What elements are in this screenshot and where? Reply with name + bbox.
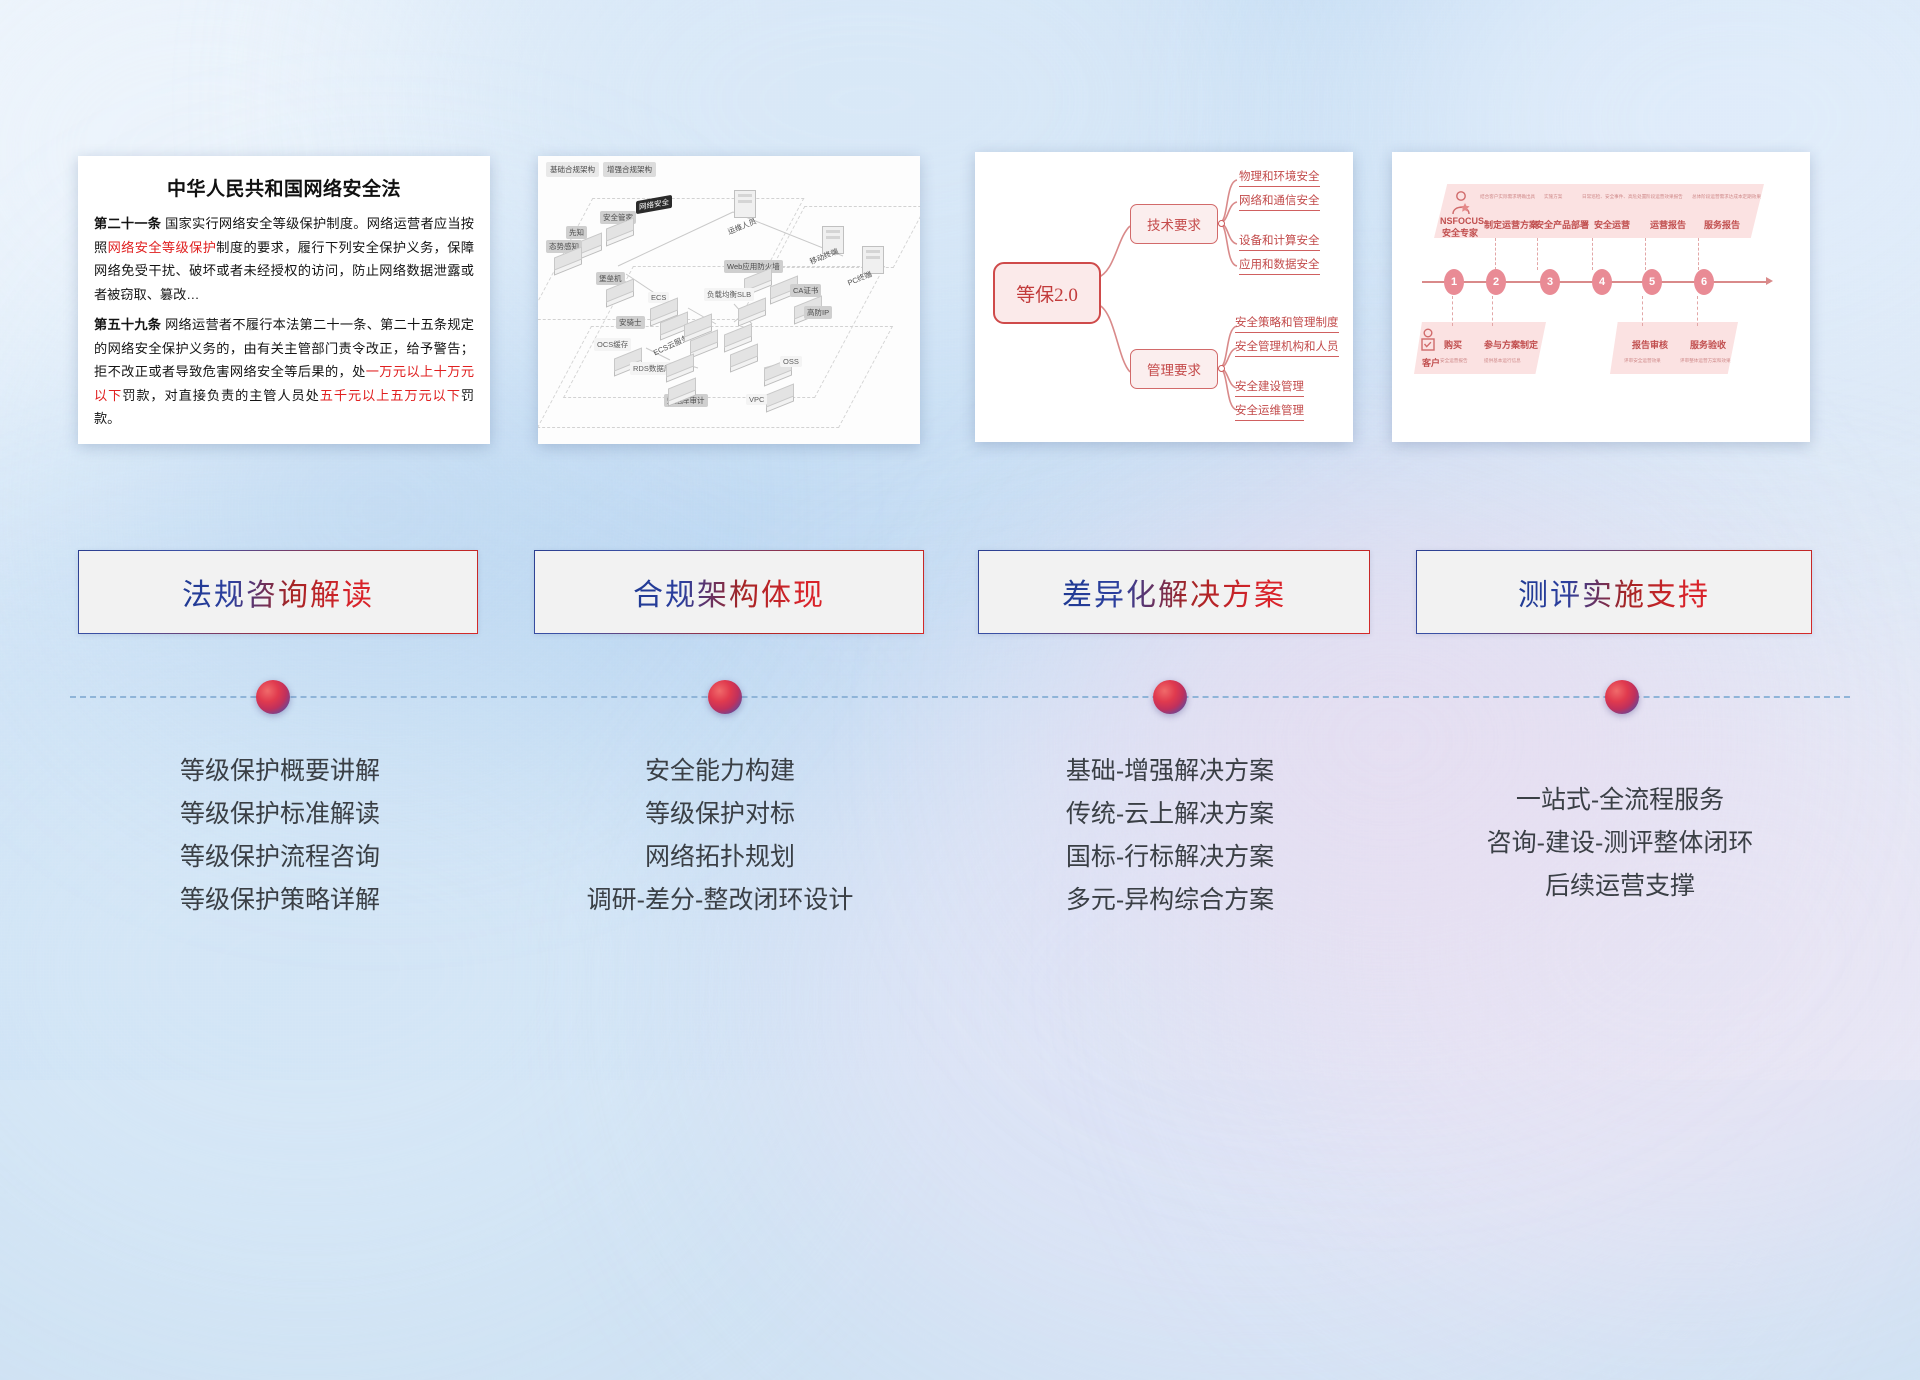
detail-list-1: 等级保护概要讲解 等级保护标准解读 等级保护流程咨询 等级保护策略详解: [60, 750, 500, 922]
mindmap-branch-management: 管理要求: [1130, 349, 1218, 389]
law-title: 中华人民共和国网络安全法: [94, 174, 474, 201]
timeline-tick: [1537, 238, 1538, 270]
timeline-node[interactable]: 3: [1540, 269, 1560, 295]
timeline-tick: [1452, 296, 1453, 326]
service-top-title: 制定运营方案: [1484, 218, 1538, 231]
arch-label-anti-ddos: 高防IP: [804, 306, 832, 319]
arch-node-icon: [738, 302, 764, 322]
arch-node-icon: [668, 382, 694, 402]
arch-label-ca: CA证书: [790, 284, 821, 297]
timeline-node[interactable]: 6: [1694, 269, 1714, 295]
arch-node-icon: [666, 358, 692, 378]
section-title-text: 测评实施支持: [1518, 570, 1710, 614]
service-bottom-title: 购买: [1444, 338, 1462, 351]
service-top-sub: 实施方案: [1544, 194, 1562, 200]
service-bottom-sub: 提供基本运行信息: [1484, 358, 1521, 364]
service-top-title: 安全运营: [1594, 218, 1630, 231]
architecture-diagram: 基础合规架构 增强合规架构 网络安全: [538, 156, 920, 444]
arch-node-icon: [766, 388, 792, 408]
arch-node-icon: [554, 251, 580, 271]
list-item: 等级保护概要讲解: [60, 750, 500, 793]
arch-node-icon: [724, 328, 750, 348]
list-item: 等级保护策略详解: [60, 879, 500, 922]
timeline-tick: [1698, 238, 1699, 270]
timeline-dashed-line: [70, 696, 1850, 698]
section-title-box-2[interactable]: 合规架构体现: [534, 550, 924, 634]
mindmap-leaf: 安全管理机构和人员: [1235, 338, 1339, 357]
service-timeline: NSFOCUS 安全专家 结合客户实际需求明确出具 制定运营方案 实施方案 安全…: [1392, 152, 1810, 442]
arch-label-anqishi: 安骑士: [616, 316, 645, 329]
list-item: 国标-行标解决方案: [950, 836, 1390, 879]
mindmap-leaf: 设备和计算安全: [1239, 232, 1320, 251]
article-59-highlight-b: 五千元以上五万元以下: [320, 388, 461, 403]
service-top-title: 运营报告: [1650, 218, 1686, 231]
expert-label-line2: 安全专家: [1442, 226, 1478, 239]
detail-list-4: 一站式-全流程服务 咨询-建设-测评整体闭环 后续运营支撑: [1400, 779, 1840, 908]
law-article-59: 第五十九条 网络运营者不履行本法第二十一条、第二十五条规定的网络安全保护义务的，…: [94, 313, 474, 431]
list-item: 安全能力构建: [500, 750, 940, 793]
section-title-box-4[interactable]: 测评实施支持: [1416, 550, 1812, 634]
customer-person-icon: [1418, 328, 1438, 354]
card-service-timeline: NSFOCUS 安全专家 结合客户实际需求明确出具 制定运营方案 实施方案 安全…: [1392, 152, 1810, 442]
section-title-text: 差异化解决方案: [1062, 570, 1286, 614]
service-top-sub: 阶段运营效果报告: [1646, 194, 1683, 200]
card-compliance-architecture: 基础合规架构 增强合规架构 网络安全: [538, 156, 920, 444]
list-item: 网络拓扑规划: [500, 836, 940, 879]
timeline-tick: [1495, 238, 1496, 270]
section-detail-row: 等级保护概要讲解 等级保护标准解读 等级保护流程咨询 等级保护策略详解 安全能力…: [0, 740, 1920, 1000]
section-title-row: 法规咨询解读 合规架构体现 差异化解决方案 测评实施支持: [0, 540, 1920, 650]
list-item: 多元-异构综合方案: [950, 879, 1390, 922]
expert-label-line1: NSFOCUS: [1440, 216, 1484, 226]
arch-node-icon: [730, 348, 756, 368]
service-top-title: 安全产品部署: [1535, 218, 1589, 231]
illustration-card-row: 中华人民共和国网络安全法 第二十一条 国家实行网络安全等级保护制度。网络运营者应…: [0, 0, 1920, 460]
article-21-label: 第二十一条: [94, 216, 161, 231]
mindmap-collapse-icon[interactable]: [1218, 365, 1225, 372]
arch-label-vpc: VPC: [746, 394, 767, 405]
list-item: 基础-增强解决方案: [950, 750, 1390, 793]
card-mscs-mindmap: 等保2.0 技术要求 物理和环境安全 网络和通信安全 设备和计算安全 应用和数据…: [975, 152, 1353, 442]
mindmap-branch-technical: 技术要求: [1130, 204, 1218, 244]
mindmap-leaf: 安全建设管理: [1235, 378, 1304, 397]
section-title-box-1[interactable]: 法规咨询解读: [78, 550, 478, 634]
timeline-marker-4[interactable]: [1605, 680, 1639, 714]
arch-label-slb: 负载均衡SLB: [704, 288, 754, 301]
mindmap: 等保2.0 技术要求 物理和环境安全 网络和通信安全 设备和计算安全 应用和数据…: [975, 152, 1353, 442]
detail-list-3: 基础-增强解决方案 传统-云上解决方案 国标-行标解决方案 多元-异构综合方案: [950, 750, 1390, 922]
section-title-text: 法规咨询解读: [182, 570, 374, 614]
article-21-highlight: 网络安全等级保护: [108, 240, 217, 255]
service-top-sub: 总体阶段运营需求达成本定期效果: [1692, 194, 1761, 200]
timeline-tick: [1697, 296, 1698, 326]
article-59-label: 第五十九条: [94, 317, 161, 332]
timeline-node[interactable]: 2: [1486, 269, 1506, 295]
law-article-21: 第二十一条 国家实行网络安全等级保护制度。网络运营者应当按照网络安全等级保护制度…: [94, 212, 474, 306]
mindmap-leaf: 应用和数据安全: [1239, 256, 1320, 275]
list-item: 传统-云上解决方案: [950, 793, 1390, 836]
list-item: 后续运营支撑: [1400, 865, 1840, 908]
mindmap-leaf: 安全策略和管理制度: [1235, 314, 1339, 333]
list-item: 等级保护流程咨询: [60, 836, 500, 879]
timeline-node[interactable]: 4: [1592, 269, 1612, 295]
arch-node-icon: [690, 334, 716, 354]
card-cybersecurity-law: 中华人民共和国网络安全法 第二十一条 国家实行网络安全等级保护制度。网络运营者应…: [78, 156, 490, 444]
timeline-strip: [0, 672, 1920, 732]
timeline-tick: [1492, 296, 1493, 326]
service-bottom-sub: 评审安全运营效果: [1624, 358, 1661, 364]
article-59-text-b: 罚款，对直接负责的主管人员处: [122, 388, 320, 403]
mindmap-leaf: 物理和环境安全: [1239, 168, 1320, 187]
section-title-box-3[interactable]: 差异化解决方案: [978, 550, 1370, 634]
timeline-node[interactable]: 5: [1642, 269, 1662, 295]
service-top-sub: 结合客户实际需求明确出具: [1480, 194, 1535, 200]
service-top-sub: 日常巡检、安全事件、高危处置: [1582, 194, 1646, 200]
timeline-arrow-icon: [1766, 277, 1773, 285]
service-bottom-sub: 安全运营报告: [1440, 358, 1468, 364]
section-title-text: 合规架构体现: [633, 570, 825, 614]
arch-node-icon: [606, 222, 632, 242]
mindmap-leaf: 网络和通信安全: [1239, 192, 1320, 211]
law-document: 中华人民共和国网络安全法 第二十一条 国家实行网络安全等级保护制度。网络运营者应…: [78, 156, 490, 444]
list-item: 等级保护对标: [500, 793, 940, 836]
list-item: 咨询-建设-测评整体闭环: [1400, 822, 1840, 865]
list-item: 调研-差分-整改闭环设计: [500, 879, 940, 922]
mindmap-leaf: 安全运维管理: [1235, 402, 1304, 421]
service-bottom-title: 报告审核: [1632, 338, 1668, 351]
expert-person-icon: [1450, 190, 1472, 216]
timeline-tick: [1592, 238, 1593, 270]
timeline-tick: [1642, 296, 1643, 326]
timeline-marker-2[interactable]: [708, 680, 742, 714]
list-item: 等级保护标准解读: [60, 793, 500, 836]
arch-node-icon: [606, 283, 632, 303]
mindmap-root: 等保2.0: [993, 262, 1101, 324]
mindmap-collapse-icon[interactable]: [1218, 220, 1225, 227]
timeline-marker-3[interactable]: [1153, 680, 1187, 714]
arch-label-oss: OSS: [780, 356, 802, 367]
customer-label: 客户: [1422, 356, 1440, 369]
service-bottom-title: 服务验收: [1690, 338, 1726, 351]
service-top-title: 服务报告: [1704, 218, 1740, 231]
service-bottom-title: 参与方案制定: [1484, 338, 1538, 351]
arch-label-ocs-cache: OCS缓存: [594, 338, 631, 351]
timeline-tick: [1645, 238, 1646, 270]
service-bottom-sub: 评审整体运营方案和效果: [1680, 358, 1731, 364]
list-item: 一站式-全流程服务: [1400, 779, 1840, 822]
timeline-node[interactable]: 1: [1444, 269, 1464, 295]
timeline-marker-1[interactable]: [256, 680, 290, 714]
detail-list-2: 安全能力构建 等级保护对标 网络拓扑规划 调研-差分-整改闭环设计: [500, 750, 940, 922]
